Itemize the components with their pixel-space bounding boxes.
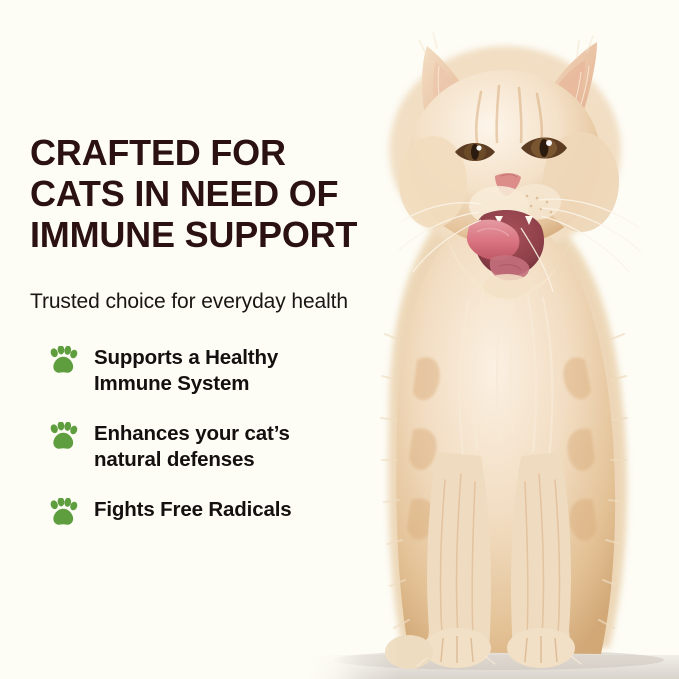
benefit-label: Fights Free Radicals [94, 496, 292, 522]
benefit-label: Enhances your cat’s natural defenses [94, 420, 290, 472]
paw-print-icon [48, 498, 78, 527]
benefit-label: Supports a Healthy Immune System [94, 344, 278, 396]
front-paws [385, 628, 575, 669]
photo-top-fade [309, 0, 679, 46]
product-ad-banner: CRAFTED FOR CATS IN NEED OF IMMUNE SUPPO… [0, 0, 679, 679]
copy-column: CRAFTED FOR CATS IN NEED OF IMMUNE SUPPO… [30, 132, 390, 527]
left-ear [422, 46, 479, 148]
cat-nose [495, 173, 521, 196]
whiskers [399, 199, 641, 292]
list-item: Supports a Healthy Immune System [30, 344, 390, 396]
paw-print-icon [48, 422, 78, 451]
benefit-list: Supports a Healthy Immune System Enh [30, 344, 390, 527]
paw-print-icon [48, 346, 78, 375]
cat-head [409, 70, 601, 246]
list-item: Fights Free Radicals [30, 496, 390, 527]
headline: CRAFTED FOR CATS IN NEED OF IMMUNE SUPPO… [30, 132, 390, 255]
cat-tongue [467, 220, 520, 261]
right-ear [533, 42, 597, 150]
open-mouth [467, 210, 544, 280]
subheadline: Trusted choice for everyday health [30, 289, 390, 314]
list-item: Enhances your cat’s natural defenses [30, 420, 390, 472]
cat-eyes [455, 138, 567, 162]
